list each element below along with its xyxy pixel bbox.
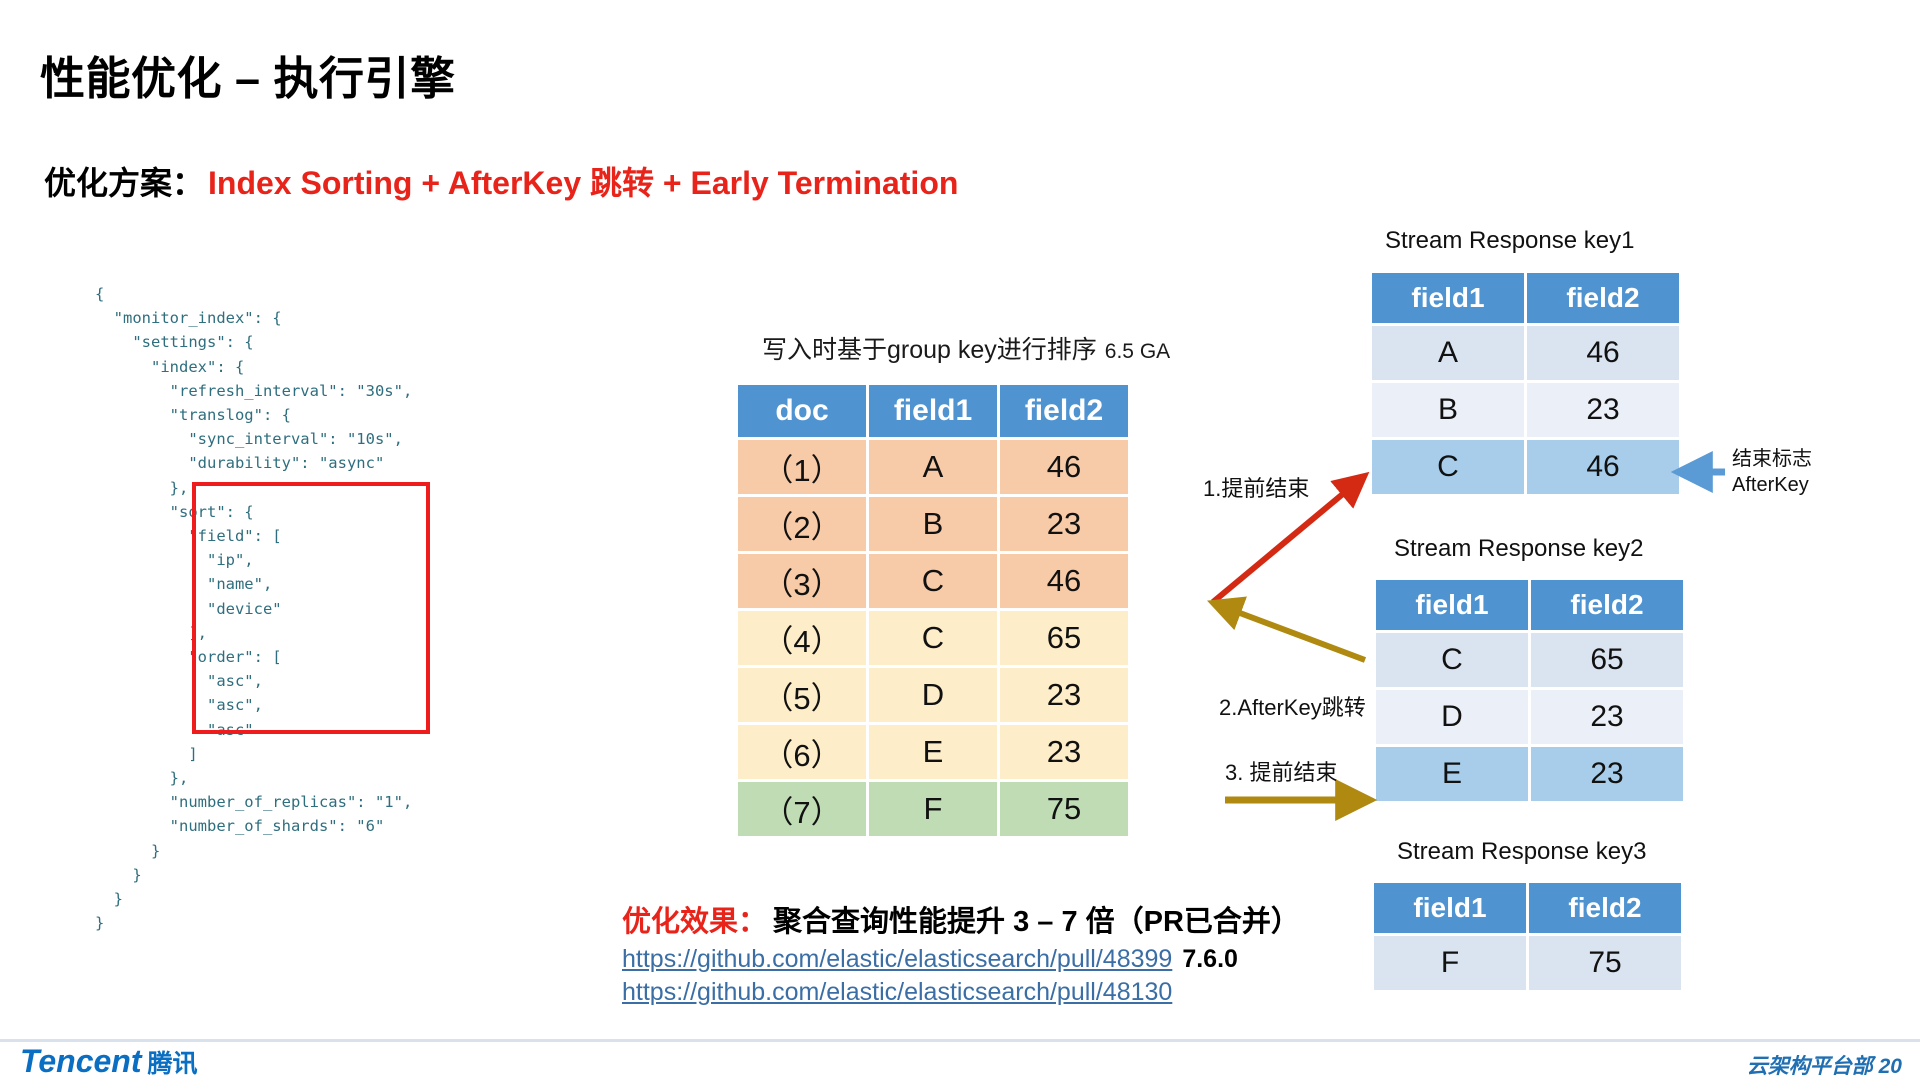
cell-field1: D <box>869 668 997 722</box>
cell-field1: B <box>1372 383 1524 437</box>
stream-table-title-key1: Stream Response key1 <box>1385 227 1634 255</box>
code-line: } <box>95 911 412 935</box>
pr-version-48399: 7.6.0 <box>1182 945 1238 973</box>
column-header-field2: field2 <box>1527 273 1679 323</box>
stream-table-title-key2: Stream Response key2 <box>1394 535 1643 563</box>
code-line: "field": [ <box>95 524 412 548</box>
footer-department-and-page: 云架构平台部 20 <box>1747 1050 1902 1080</box>
tencent-logo: Tencent腾讯 <box>20 1043 198 1080</box>
cell-field1: E <box>869 725 997 779</box>
code-line: }, <box>95 476 412 500</box>
table-row: （1）A46 <box>738 440 1128 494</box>
annotation-step-3: 3. 提前结束 <box>1225 755 1337 787</box>
result-label: 优化效果： <box>622 906 767 938</box>
main-table-caption-version: 6.5 GA <box>1105 340 1170 363</box>
cell-field1: B <box>869 497 997 551</box>
cell-doc: （7） <box>738 782 866 836</box>
cell-field2: 75 <box>1529 936 1681 990</box>
annotation-step-2: 2.AfterKey跳转 <box>1219 690 1366 722</box>
stream-response-table-key2: field1 field2 C65D23E23 <box>1373 577 1686 804</box>
doc-table: doc field1 field2 （1）A46（2）B23（3）C46（4）C… <box>735 382 1131 839</box>
code-line: } <box>95 863 412 887</box>
cell-field2: 23 <box>1000 497 1128 551</box>
tencent-logo-text: Tencent <box>20 1043 142 1079</box>
code-line: "number_of_shards": "6" <box>95 814 412 838</box>
pr-link-row-1: https://github.com/elastic/elasticsearch… <box>622 945 1238 974</box>
cell-field2: 75 <box>1000 782 1128 836</box>
table-row: C65 <box>1376 633 1683 687</box>
cell-field2: 23 <box>1000 725 1128 779</box>
code-line: "sort": { <box>95 500 412 524</box>
code-line: "refresh_interval": "30s", <box>95 379 412 403</box>
code-line: "ip", <box>95 548 412 572</box>
cell-doc: （5） <box>738 668 866 722</box>
page-title: 性能优化 – 执行引擎 <box>40 42 456 107</box>
subtitle-value: Index Sorting + AfterKey 跳转 + Early Term… <box>208 165 958 201</box>
code-line: "name", <box>95 572 412 596</box>
code-line: "translog": { <box>95 403 412 427</box>
table-row: A46 <box>1372 326 1679 380</box>
code-line: } <box>95 887 412 911</box>
cell-doc: （1） <box>738 440 866 494</box>
cell-field2: 65 <box>1531 633 1683 687</box>
column-header-doc: doc <box>738 385 866 437</box>
table-header-row: doc field1 field2 <box>738 385 1128 437</box>
cell-field1: F <box>869 782 997 836</box>
pr-link-row-2: https://github.com/elastic/elasticsearch… <box>622 978 1172 1007</box>
table-row: （4）C65 <box>738 611 1128 665</box>
code-line: ], <box>95 621 412 645</box>
subtitle: 优化方案：Index Sorting + AfterKey 跳转 + Early… <box>44 158 958 204</box>
table-row: E23 <box>1376 747 1683 801</box>
arrow-afterkey-jump <box>1216 604 1365 660</box>
json-code-block: { "monitor_index": { "settings": { "inde… <box>95 282 412 935</box>
stream-response-table-key3: field1 field2 F75 <box>1371 880 1684 993</box>
table-header-row: field1 field2 <box>1372 273 1679 323</box>
code-line: }, <box>95 766 412 790</box>
result-text: 聚合查询性能提升 3 – 7 倍（PR已合并） <box>773 906 1300 938</box>
table-row: （2）B23 <box>738 497 1128 551</box>
column-header-field2: field2 <box>1000 385 1128 437</box>
table-header-row: field1 field2 <box>1374 883 1681 933</box>
result-line: 优化效果：聚合查询性能提升 3 – 7 倍（PR已合并） <box>622 898 1300 940</box>
code-line: "index": { <box>95 355 412 379</box>
column-header-field1: field1 <box>1374 883 1526 933</box>
table-row: D23 <box>1376 690 1683 744</box>
cell-field2: 23 <box>1527 383 1679 437</box>
code-line: "sync_interval": "10s", <box>95 427 412 451</box>
cell-field1: E <box>1376 747 1528 801</box>
cell-field2: 46 <box>1527 326 1679 380</box>
cell-field1: A <box>1372 326 1524 380</box>
table-row: （3）C46 <box>738 554 1128 608</box>
cell-field1: C <box>1372 440 1524 494</box>
code-line: "device" <box>95 597 412 621</box>
main-table-caption-text: 写入时基于group key进行排序 <box>762 336 1097 364</box>
afterkey-note-line1: 结束标志 <box>1732 446 1812 472</box>
table-row: F75 <box>1374 936 1681 990</box>
code-line: { <box>95 282 412 306</box>
cell-field1: C <box>869 554 997 608</box>
column-header-field1: field1 <box>1372 273 1524 323</box>
stream-response-table-key1: field1 field2 A46B23C46 <box>1369 270 1682 497</box>
cell-field1: F <box>1374 936 1526 990</box>
afterkey-note: 结束标志 AfterKey <box>1732 446 1812 498</box>
table-row: B23 <box>1372 383 1679 437</box>
subtitle-label: 优化方案： <box>44 165 204 201</box>
code-line: } <box>95 839 412 863</box>
column-header-field1: field1 <box>1376 580 1528 630</box>
tencent-logo-cn: 腾讯 <box>148 1050 198 1078</box>
main-table-caption: 写入时基于group key进行排序6.5 GA <box>762 330 1170 366</box>
annotation-step-1: 1.提前结束 <box>1203 471 1309 503</box>
cell-field1: A <box>869 440 997 494</box>
column-header-field1: field1 <box>869 385 997 437</box>
cell-field2: 46 <box>1000 440 1128 494</box>
cell-doc: （6） <box>738 725 866 779</box>
code-line: "asc", <box>95 693 412 717</box>
afterkey-note-line2: AfterKey <box>1732 472 1812 498</box>
table-row: （5）D23 <box>738 668 1128 722</box>
footer-divider <box>0 1039 1920 1042</box>
code-line: "number_of_replicas": "1", <box>95 790 412 814</box>
cell-doc: （4） <box>738 611 866 665</box>
cell-doc: （3） <box>738 554 866 608</box>
stream-table-title-key3: Stream Response key3 <box>1397 838 1646 866</box>
cell-field1: C <box>869 611 997 665</box>
cell-field2: 23 <box>1531 690 1683 744</box>
code-line: "monitor_index": { <box>95 306 412 330</box>
table-row: C46 <box>1372 440 1679 494</box>
column-header-field2: field2 <box>1531 580 1683 630</box>
cell-field2: 46 <box>1527 440 1679 494</box>
code-line: "settings": { <box>95 330 412 354</box>
column-header-field2: field2 <box>1529 883 1681 933</box>
table-header-row: field1 field2 <box>1376 580 1683 630</box>
cell-doc: （2） <box>738 497 866 551</box>
code-line: "asc" <box>95 718 412 742</box>
code-line: "order": [ <box>95 645 412 669</box>
cell-field2: 65 <box>1000 611 1128 665</box>
pr-link-48399[interactable]: https://github.com/elastic/elasticsearch… <box>622 945 1172 973</box>
cell-field1: C <box>1376 633 1528 687</box>
code-line: "durability": "async" <box>95 451 412 475</box>
cell-field2: 23 <box>1000 668 1128 722</box>
table-row: （7）F75 <box>738 782 1128 836</box>
code-line: "asc", <box>95 669 412 693</box>
cell-field2: 46 <box>1000 554 1128 608</box>
cell-field2: 23 <box>1531 747 1683 801</box>
code-line: ] <box>95 742 412 766</box>
table-row: （6）E23 <box>738 725 1128 779</box>
cell-field1: D <box>1376 690 1528 744</box>
pr-link-48130[interactable]: https://github.com/elastic/elasticsearch… <box>622 978 1172 1006</box>
